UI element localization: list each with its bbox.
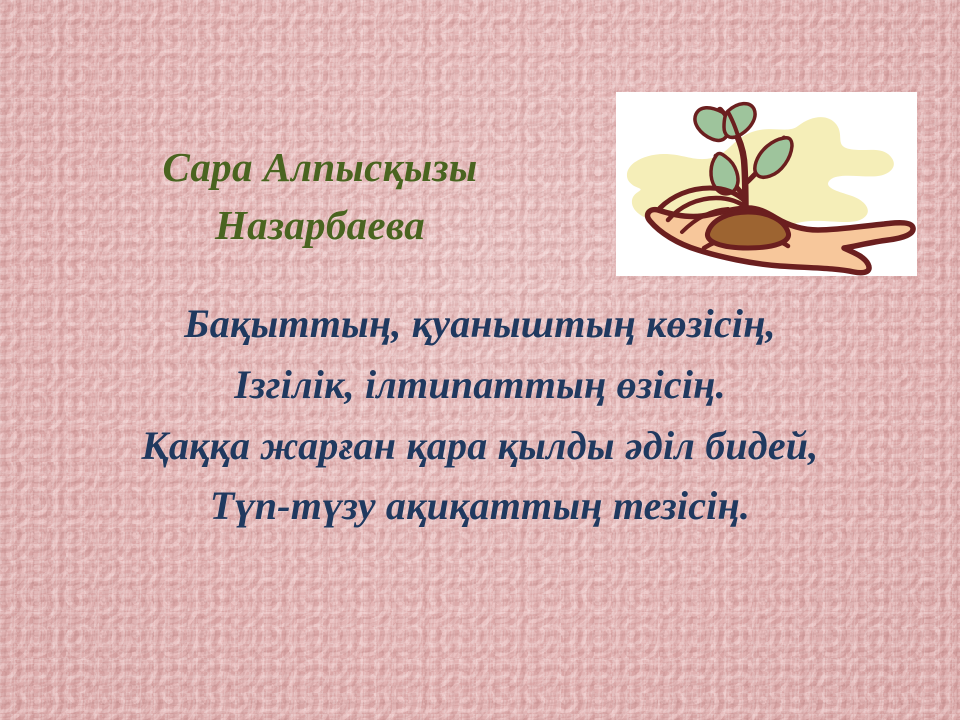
poem-text-block: Бақыттың, қуаныштың көзісің, Ізгілік, іл… <box>72 296 888 539</box>
poem-line-4: Түп-түзу ақиқаттың тезісің. <box>72 478 888 535</box>
poem-line-1: Бақыттың, қуаныштың көзісің, <box>72 296 888 353</box>
hand-holding-seedling-image <box>616 92 917 276</box>
slide-title-line-1: Сара Алпысқызы <box>60 138 580 196</box>
seedling-illustration-svg <box>616 92 917 276</box>
slide-title: Сара Алпысқызы Назарбаева <box>60 138 580 254</box>
presentation-slide: Сара Алпысқызы Назарбаева <box>0 0 960 720</box>
slide-title-line-2: Назарбаева <box>60 196 580 254</box>
poem-line-2: Ізгілік, ілтипаттың өзісің. <box>72 357 888 414</box>
soil-mound <box>707 212 788 248</box>
poem-line-3: Қаққа жарған қара қылды әділ бидей, <box>130 418 830 475</box>
